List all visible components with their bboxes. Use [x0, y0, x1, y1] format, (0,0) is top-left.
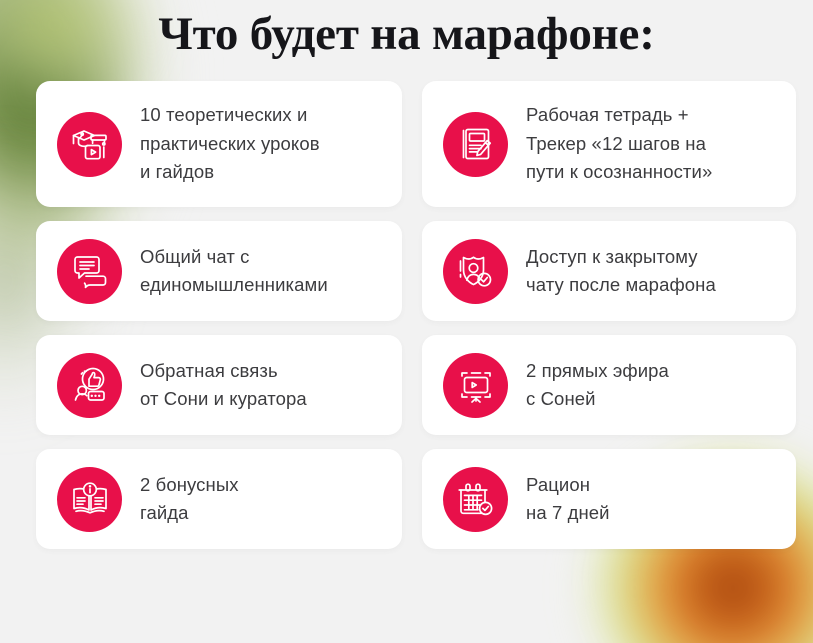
benefit-card-private-chat-access[interactable]: Доступ к закрытому чату после марафона — [422, 221, 796, 321]
benefit-card-group-chat[interactable]: Общий чат с единомышленниками — [36, 221, 402, 321]
benefit-card-label: 10 теоретических и практических уроков и… — [140, 101, 320, 187]
page-title: Что будет на марафоне: — [0, 0, 813, 58]
thumbs-up-person-message-icon — [57, 353, 122, 418]
shield-person-check-icon — [443, 239, 508, 304]
benefit-card-label: 2 прямых эфира с Соней — [526, 357, 669, 414]
open-book-info-icon — [57, 467, 122, 532]
notebook-pencil-icon — [443, 112, 508, 177]
benefit-card-label: Общий чат с единомышленниками — [140, 243, 328, 300]
benefit-card-meal-plan[interactable]: Рацион на 7 дней — [422, 449, 796, 549]
benefit-card-feedback[interactable]: Обратная связь от Сони и куратора — [36, 335, 402, 435]
benefit-card-label: Доступ к закрытому чату после марафона — [526, 243, 716, 300]
benefit-card-label: Рацион на 7 дней — [526, 471, 610, 528]
graduation-cap-book-play-icon — [57, 112, 122, 177]
benefit-card-label: 2 бонусных гайда — [140, 471, 239, 528]
benefit-card-label: Рабочая тетрадь + Трекер «12 шагов на пу… — [526, 101, 712, 187]
benefit-card-bonus-guides[interactable]: 2 бонусных гайда — [36, 449, 402, 549]
benefit-card-lessons[interactable]: 10 теоретических и практических уроков и… — [36, 81, 402, 207]
benefit-card-label: Обратная связь от Сони и куратора — [140, 357, 307, 414]
phone-tripod-play-icon — [443, 353, 508, 418]
benefit-card-live-streams[interactable]: 2 прямых эфира с Соней — [422, 335, 796, 435]
benefit-card-workbook[interactable]: Рабочая тетрадь + Трекер «12 шагов на пу… — [422, 81, 796, 207]
page-content: Что будет на марафоне: 10 — [0, 0, 813, 549]
chat-bubbles-icon — [57, 239, 122, 304]
benefits-grid: 10 теоретических и практических уроков и… — [0, 58, 813, 549]
calendar-check-icon — [443, 467, 508, 532]
